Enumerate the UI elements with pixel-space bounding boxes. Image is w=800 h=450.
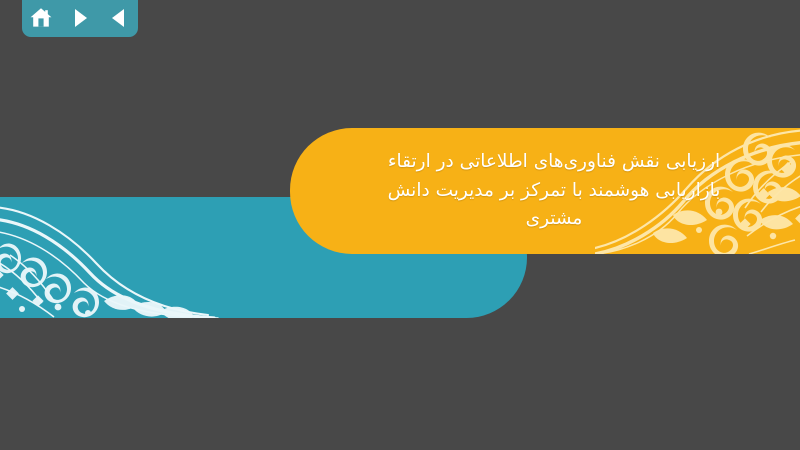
slide-canvas: ارزیابی نقش فناوری‌های اطلاعاتی در ارتقا… (0, 0, 800, 450)
title-banner: ارزیابی نقش فناوری‌های اطلاعاتی در ارتقا… (290, 128, 800, 254)
triangle-left-icon (108, 7, 130, 29)
home-icon (29, 6, 53, 30)
title-line-3: مشتری (526, 205, 583, 234)
home-button[interactable] (28, 5, 54, 31)
triangle-right-icon (69, 7, 91, 29)
navigation-toolbar (22, 0, 138, 37)
slide-title: ارزیابی نقش فناوری‌های اطلاعاتی در ارتقا… (290, 128, 800, 254)
forward-button[interactable] (67, 5, 93, 31)
title-line-2: بازاریابی هوشمند با تمرکز بر مدیریت دانش (388, 177, 721, 206)
teal-arabesque-ornament (0, 197, 222, 318)
title-line-1: ارزیابی نقش فناوری‌های اطلاعاتی در ارتقا… (388, 148, 720, 177)
back-button[interactable] (106, 5, 132, 31)
